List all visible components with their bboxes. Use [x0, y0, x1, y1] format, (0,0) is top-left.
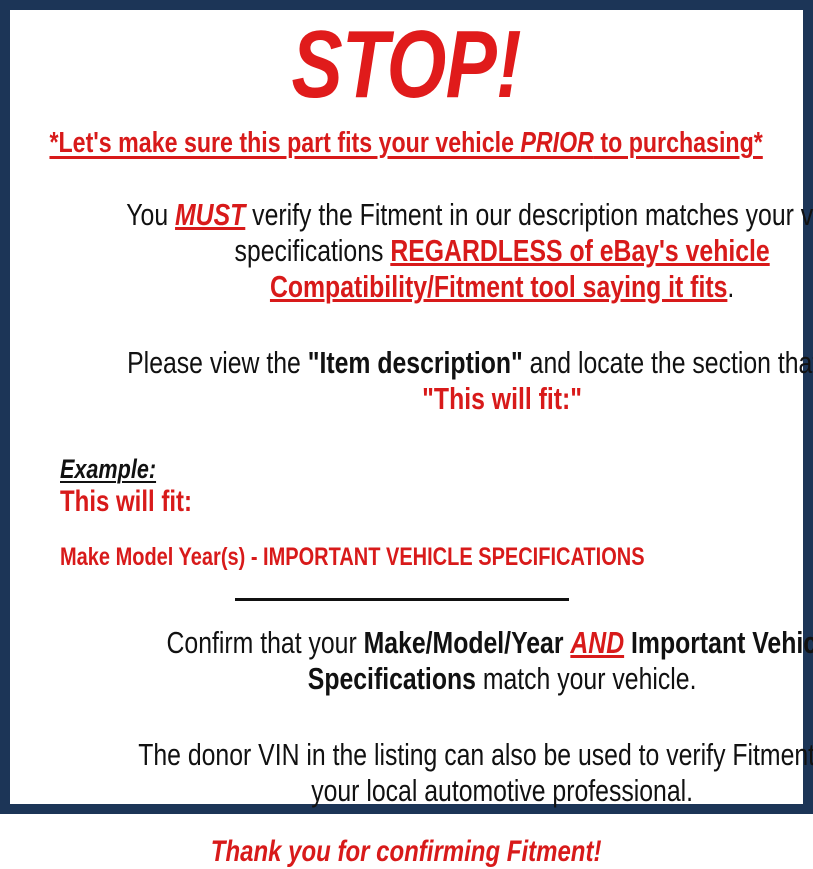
confirm-seg5: match your vehicle.: [476, 661, 697, 696]
stop-headline-text: STOP!: [24, 16, 789, 114]
vin-paragraph: The donor VIN in the listing can also be…: [24, 697, 789, 809]
confirm-seg1: Confirm that your: [167, 625, 364, 660]
tagline: *Let's make sure this part fits your veh…: [24, 114, 789, 160]
horizontal-divider: [235, 598, 569, 601]
tagline-prefix: *Let's make sure this part fits your veh…: [50, 127, 521, 159]
item-description-paragraph-text: Please view the "Item description" and l…: [120, 345, 813, 417]
example-fit-heading: This will fit:: [60, 485, 789, 518]
fitment-notice-card: STOP! *Let's make sure this part fits yo…: [0, 0, 813, 814]
must-paragraph-text: You MUST verify the Fitment in our descr…: [120, 197, 813, 305]
must-seg5: .: [727, 269, 734, 304]
tagline-text: *Let's make sure this part fits your veh…: [24, 128, 789, 160]
confirm-paragraph-text: Confirm that your Make/Model/Year AND Im…: [120, 625, 813, 697]
item-description-label: "Item description": [308, 345, 523, 380]
tagline-emphasis: PRIOR: [521, 127, 594, 159]
make-model-year-label: Make/Model/Year: [364, 625, 571, 660]
and-keyword: AND: [570, 625, 624, 660]
vin-paragraph-text: The donor VIN in the listing can also be…: [120, 737, 813, 809]
stop-headline: STOP!: [24, 10, 789, 114]
example-block-inner: Example: This will fit: Make Model Year(…: [60, 455, 789, 572]
example-label: Example:: [60, 455, 156, 484]
must-paragraph: You MUST verify the Fitment in our descr…: [24, 160, 789, 305]
item-description-paragraph: Please view the "Item description" and l…: [24, 305, 789, 417]
itemdesc-seg1: Please view the: [127, 345, 308, 380]
itemdesc-seg3: and locate the section that says: [523, 345, 813, 380]
must-keyword: MUST: [175, 197, 245, 232]
notice-content: STOP! *Let's make sure this part fits yo…: [10, 10, 803, 804]
divider-wrapper: [24, 572, 789, 601]
example-block: Example: This will fit: Make Model Year(…: [24, 417, 789, 572]
example-spec-line: Make Model Year(s) - IMPORTANT VEHICLE S…: [60, 543, 789, 572]
this-will-fit-quote: "This will fit:": [422, 381, 582, 416]
thanks-text: Thank you for confirming Fitment!: [24, 835, 789, 869]
thanks-line: Thank you for confirming Fitment!: [24, 809, 789, 869]
confirm-paragraph: Confirm that your Make/Model/Year AND Im…: [24, 601, 789, 697]
tagline-suffix: to purchasing*: [594, 127, 763, 159]
must-seg1: You: [126, 197, 175, 232]
